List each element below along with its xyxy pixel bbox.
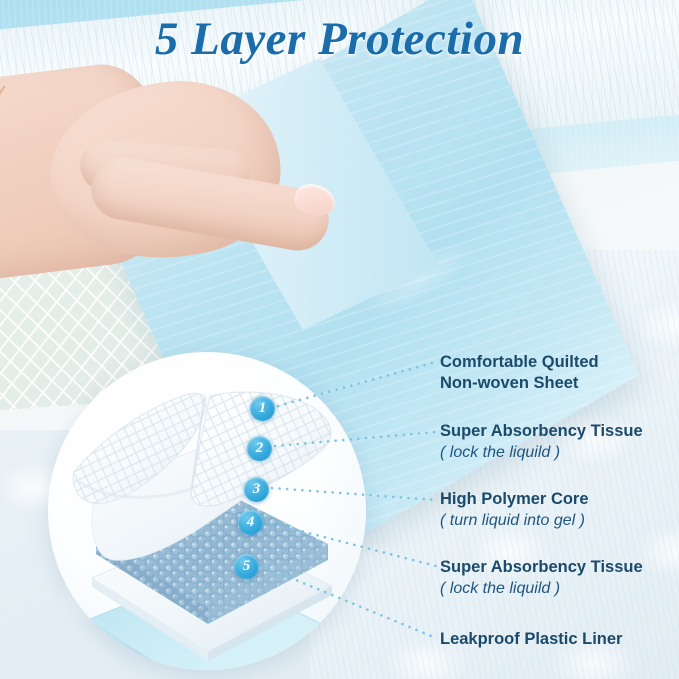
layer-label-2: Super Absorbency Tissue ( lock the liqui… bbox=[440, 421, 679, 463]
layer-label-4: Super Absorbency Tissue ( lock the liqui… bbox=[440, 557, 679, 599]
layer-badge-5[interactable]: 5 bbox=[234, 554, 259, 579]
layer-cutaway-inset bbox=[48, 352, 366, 670]
layer-label-3-line1: High Polymer Core bbox=[440, 489, 679, 510]
product-infographic: 1 2 3 4 5 5 Layer Protection Comfortable… bbox=[0, 0, 679, 679]
layer-badge-3[interactable]: 3 bbox=[244, 477, 269, 502]
hand-holding-pad bbox=[0, 55, 360, 325]
layer-badge-4[interactable]: 4 bbox=[238, 510, 263, 535]
layer-badge-2[interactable]: 2 bbox=[247, 436, 272, 461]
layer-label-1: Comfortable Quilted Non-woven Sheet bbox=[440, 352, 679, 394]
layer-label-5-line1: Leakproof Plastic Liner bbox=[440, 629, 679, 650]
layer-label-3-note: ( turn liquid into gel ) bbox=[440, 510, 679, 531]
layer-label-list: Comfortable Quilted Non-woven Sheet Supe… bbox=[440, 0, 679, 679]
layer-label-1-line2: Non-woven Sheet bbox=[440, 373, 679, 394]
layer-label-1-line1: Comfortable Quilted bbox=[440, 352, 679, 373]
layer-label-4-line1: Super Absorbency Tissue bbox=[440, 557, 679, 578]
layer-label-2-line1: Super Absorbency Tissue bbox=[440, 421, 679, 442]
layer-badge-1[interactable]: 1 bbox=[250, 396, 275, 421]
exploded-layer-stack bbox=[48, 352, 366, 670]
layer-label-2-note: ( lock the liquild ) bbox=[440, 442, 679, 463]
layer-1-quilted-sheet bbox=[73, 392, 331, 506]
layer-label-3: High Polymer Core ( turn liquid into gel… bbox=[440, 489, 679, 531]
layer-label-5: Leakproof Plastic Liner bbox=[440, 629, 679, 650]
layer-label-4-note: ( lock the liquild ) bbox=[440, 578, 679, 599]
